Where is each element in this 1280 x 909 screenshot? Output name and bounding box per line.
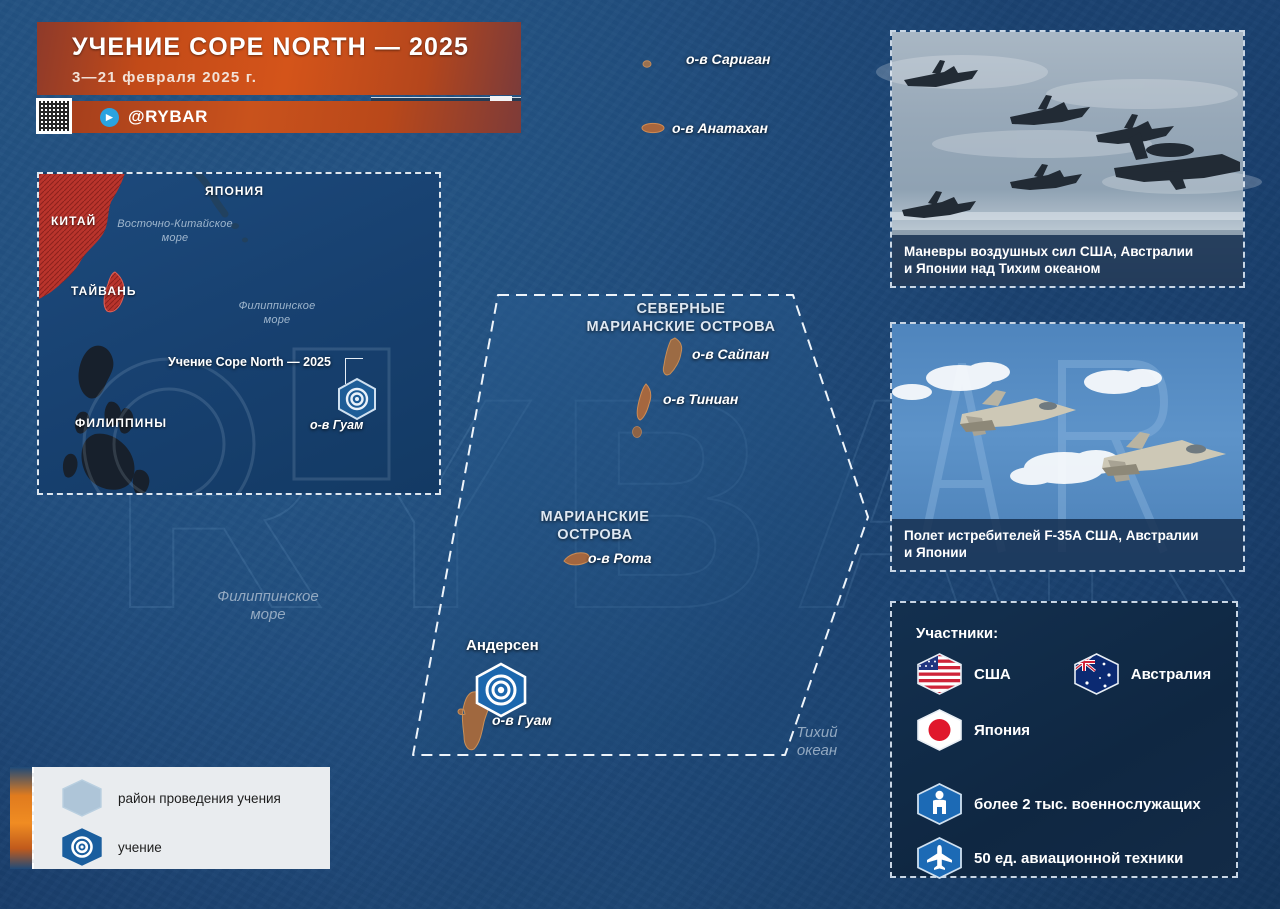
island-saipan-shape [658, 336, 688, 381]
aircraft-icon [916, 837, 963, 879]
exercise-target-icon[interactable] [470, 661, 532, 719]
stat-label-personnel: более 2 тыс. военнослужащих [974, 796, 1201, 813]
inset-country-label-taiwan: ТАЙВАНЬ [71, 284, 137, 298]
sea-label-philippine-line2: море [178, 606, 358, 625]
source-bar: ► @RYBAR [70, 101, 521, 133]
stat-label-aircraft: 50 ед. авиационной техники [974, 850, 1183, 867]
photo-card-f35a-flight: Полет истребителей F-35A США, Австралии … [890, 322, 1245, 572]
legend-item-exercise: учение [60, 827, 330, 867]
sea-label-pacific-line2: океан [772, 742, 862, 761]
qr-code-icon [36, 98, 72, 134]
participant-label-australia: Австралия [1131, 666, 1211, 683]
region-label-marianas-line2: ОСТРОВА [520, 527, 670, 545]
map-legend: район проведения учения учение [10, 767, 330, 869]
legend-item-exercise-area: район проведения учения [60, 778, 330, 818]
inset-sea-label-east-china-line2: море [95, 232, 255, 246]
page-title: УЧЕНИЕ COPE NORTH — 2025 [72, 33, 521, 62]
inset-sea-label-east-china-line1: Восточно-Китайское [95, 218, 255, 232]
header-banner: УЧЕНИЕ COPE NORTH — 2025 3—21 февраля 20… [37, 22, 521, 95]
legend-label-exercise-area: район проведения учения [118, 791, 281, 806]
participants-title: Участники: [916, 625, 1236, 642]
source-handle[interactable]: @RYBAR [128, 107, 208, 127]
japan-flag-icon [916, 709, 963, 751]
legend-accent-bar [10, 767, 32, 869]
inset-callout-label: Учение Cope North — 2025 [168, 355, 331, 369]
participant-label-usa: США [974, 666, 1011, 683]
island-label-tinian: о-в Тиниан [663, 391, 738, 407]
sea-label-philippine-line1: Филиппинское [178, 588, 358, 607]
photo-caption-line1: Полет истребителей F-35A США, Австралии [904, 527, 1231, 544]
soldier-icon [916, 783, 963, 825]
region-label-northern-marianas-line2: МАРИАНСКИЕ ОСТРОВА [578, 319, 784, 337]
participant-label-japan: Япония [974, 722, 1030, 739]
inset-sea-label-philippine-line1: Филиппинское [197, 300, 357, 314]
exercise-target-icon [60, 827, 104, 867]
photo-caption-line2: и Японии над Тихим океаном [904, 260, 1231, 277]
participant-australia[interactable]: Австралия [1073, 653, 1211, 695]
inset-country-label-japan: ЯПОНИЯ [205, 184, 264, 198]
photo-caption-f35a-flight: Полет истребителей F-35A США, Австралии … [892, 519, 1243, 570]
island-label-saipan: о-в Сайпан [692, 346, 769, 362]
inset-exercise-target-icon[interactable] [334, 377, 380, 421]
inset-overview-map: ЯПОНИЯ КИТАЙ ТАЙВАНЬ ФИЛИППИНЫ Восточно-… [37, 172, 441, 495]
inset-country-label-philippines: ФИЛИППИНЫ [75, 416, 167, 430]
region-label-northern-marianas-line1: СЕВЕРНЫЕ [578, 301, 784, 319]
island-aguijan-shape [630, 424, 646, 440]
inset-sea-label-philippine-line2: море [197, 314, 357, 328]
telegram-icon: ► [100, 108, 119, 127]
island-label-rota: о-в Рота [588, 550, 652, 566]
australia-flag-icon [1073, 653, 1120, 695]
base-label-andersen: Андерсен [466, 637, 539, 654]
photo-card-air-maneuvers: Маневры воздушных сил США, Австралии и Я… [890, 30, 1245, 288]
island-anatahan-shape [640, 120, 668, 136]
inset-country-label-china: КИТАЙ [51, 214, 96, 228]
stat-personnel: более 2 тыс. военнослужащих [916, 783, 1236, 825]
island-label-sarigan: о-в Сариган [686, 51, 770, 67]
usa-flag-icon [916, 653, 963, 695]
sea-label-pacific-line1: Тихий [772, 724, 862, 743]
stat-aircraft: 50 ед. авиационной техники [916, 837, 1236, 879]
legend-label-exercise: учение [118, 840, 162, 855]
island-label-anatahan: о-в Анатахан [672, 120, 768, 136]
inset-island-label-guam: о-в Гуам [310, 418, 363, 432]
photo-caption-line2: и Японии [904, 544, 1231, 561]
exercise-date: 3—21 февраля 2025 г. [72, 69, 521, 86]
exercise-area-hex-icon [60, 778, 104, 818]
island-sarigan-shape [640, 58, 656, 70]
photo-caption-air-maneuvers: Маневры воздушных сил США, Австралии и Я… [892, 235, 1243, 286]
island-tinian-shape [633, 382, 657, 424]
participants-panel: Участники: [890, 601, 1238, 878]
region-label-marianas-line1: МАРИАНСКИЕ [520, 509, 670, 527]
participant-usa[interactable]: США [916, 653, 1011, 695]
photo-caption-line1: Маневры воздушных сил США, Австралии [904, 243, 1231, 260]
participant-japan[interactable]: Япония [916, 709, 1236, 751]
